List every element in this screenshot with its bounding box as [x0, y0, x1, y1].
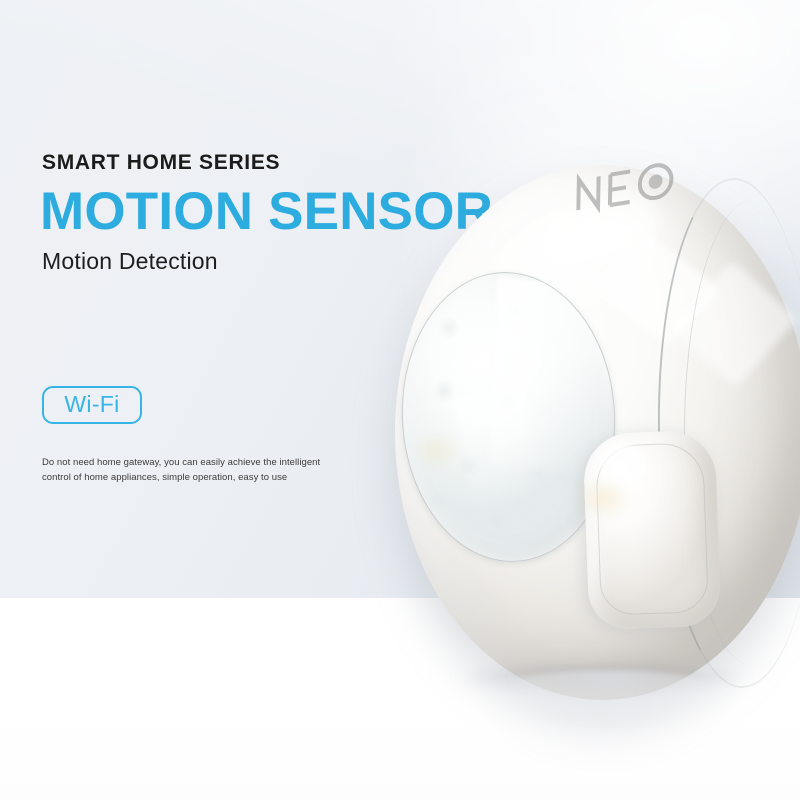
lens-glare-secondary: [454, 386, 546, 517]
subtitle-text: Motion Detection: [42, 248, 218, 275]
wifi-badge-label: Wi-Fi: [64, 393, 119, 416]
product-banner: SMART HOME SERIES MOTION SENSOR Motion D…: [0, 0, 800, 800]
product-image: [390, 160, 800, 705]
description-text: Do not need home gateway, you can easily…: [42, 455, 336, 486]
kicker-text: SMART HOME SERIES: [42, 151, 280, 175]
wifi-badge: Wi-Fi: [42, 386, 142, 424]
mounting-tab: [583, 430, 722, 630]
